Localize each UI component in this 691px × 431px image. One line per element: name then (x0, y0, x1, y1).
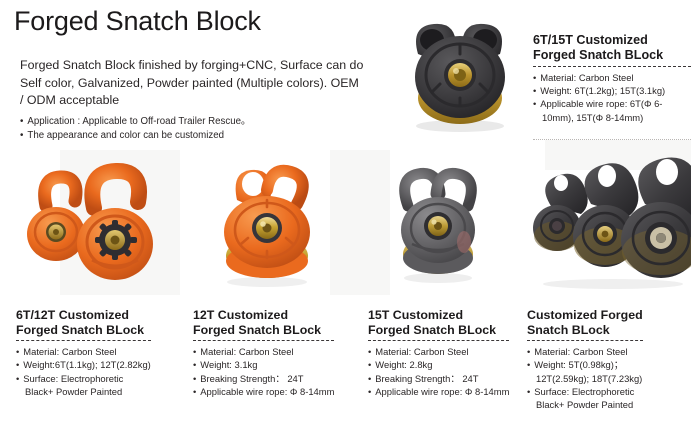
product-heading-line2: Snatch BLock (527, 323, 610, 337)
featured-heading-line2: Forged Snatch BLock (533, 48, 663, 62)
featured-spec-list: Material: Carbon Steel Weight: 6T(1.2kg)… (533, 71, 691, 124)
product-heading-line2: Forged Snatch BLock (193, 323, 321, 337)
spec-item: Breaking Strength： 24T (193, 372, 334, 385)
intro-bullet: Application : Applicable to Off-road Tra… (20, 115, 370, 129)
section-divider (533, 139, 691, 140)
product-heading-line1: 6T/12T Customized (16, 308, 129, 322)
heading-divider (527, 340, 643, 341)
product-info-2: 12T Customized Forged Snatch BLock Mater… (193, 308, 334, 398)
spec-item: Material: Carbon Steel (527, 345, 643, 358)
spec-item: Weight:6T(1.1kg); 12T(2.82kg) (16, 358, 151, 371)
spec-item: Weight: 6T(1.2kg); 15T(3.1kg) (533, 84, 691, 97)
product-spec-list: Material: Carbon Steel Weight: 2.8kg Bre… (368, 345, 509, 398)
spec-item: Applicable wire rope: Φ 8-14mm (193, 385, 334, 398)
spec-item: Weight: 2.8kg (368, 358, 509, 371)
product-heading: 12T Customized Forged Snatch BLock (193, 308, 334, 337)
spec-item: Surface: Electrophoretic (16, 372, 151, 385)
intro-bullet-list: Application : Applicable to Off-road Tra… (20, 115, 370, 143)
orange-pair-snatch-block-photo (16, 160, 176, 295)
spec-item: Material: Carbon Steel (533, 71, 691, 84)
heading-divider (533, 66, 691, 67)
product-heading: Customized Forged Snatch BLock (527, 308, 643, 337)
spec-continuation: Black+ Powder Painted (527, 398, 643, 411)
product-info-4: Customized Forged Snatch BLock Material:… (527, 308, 643, 411)
product-spec-list: Material: Carbon Steel Weight: 3.1kg Bre… (193, 345, 334, 398)
product-spec-list: Material: Carbon Steel Weight: 5T(0.98kg… (527, 345, 643, 411)
spec-item: Material: Carbon Steel (368, 345, 509, 358)
spec-item: Surface: Electrophoretic (527, 385, 643, 398)
intro-paragraph: Forged Snatch Block finished by forging+… (20, 57, 365, 110)
product-heading-line1: 12T Customized (193, 308, 288, 322)
spec-continuation: Black+ Powder Painted (16, 385, 151, 398)
orange-twin-eye-snatch-block-photo (193, 160, 348, 295)
spec-continuation: 12T(2.59kg); 18T(7.23kg) (527, 372, 643, 385)
spec-item: Applicable wire rope: 6T(Φ 6- (533, 97, 691, 110)
product-info-1: 6T/12T Customized Forged Snatch BLock Ma… (16, 308, 151, 398)
spec-item: Material: Carbon Steel (16, 345, 151, 358)
spec-item: Applicable wire rope: Φ 8-14mm (368, 385, 509, 398)
product-heading-line2: Forged Snatch BLock (368, 323, 496, 337)
page-title: Forged Snatch Block (14, 6, 261, 37)
product-info-3: 15T Customized Forged Snatch BLock Mater… (368, 308, 509, 398)
product-spec-list: Material: Carbon Steel Weight:6T(1.1kg);… (16, 345, 151, 398)
product-heading: 6T/12T Customized Forged Snatch BLock (16, 308, 151, 337)
heading-divider (193, 340, 334, 341)
product-heading-line1: 15T Customized (368, 308, 463, 322)
gray-twin-eye-snatch-block-photo (368, 160, 518, 295)
black-teardrop-pulley-trio-photo (527, 160, 691, 295)
featured-product-photo (392, 14, 528, 136)
featured-heading-line1: 6T/15T Customized (533, 33, 648, 47)
spec-continuation: 10mm), 15T(Φ 8-14mm) (533, 111, 691, 124)
heading-divider (368, 340, 509, 341)
product-heading-line1: Customized Forged (527, 308, 643, 322)
spec-item: Weight: 5T(0.98kg)； (527, 358, 643, 371)
heading-divider (16, 340, 151, 341)
featured-heading: 6T/15T Customized Forged Snatch BLock (533, 33, 691, 63)
spec-item: Material: Carbon Steel (193, 345, 334, 358)
intro-bullet: The appearance and color can be customiz… (20, 129, 370, 143)
spec-item: Breaking Strength： 24T (368, 372, 509, 385)
spec-item: Weight: 3.1kg (193, 358, 334, 371)
featured-product-info: 6T/15T Customized Forged Snatch BLock Ma… (533, 33, 691, 124)
product-heading: 15T Customized Forged Snatch BLock (368, 308, 509, 337)
product-heading-line2: Forged Snatch BLock (16, 323, 144, 337)
catalog-page: Forged Snatch Block Forged Snatch Block … (0, 0, 691, 431)
